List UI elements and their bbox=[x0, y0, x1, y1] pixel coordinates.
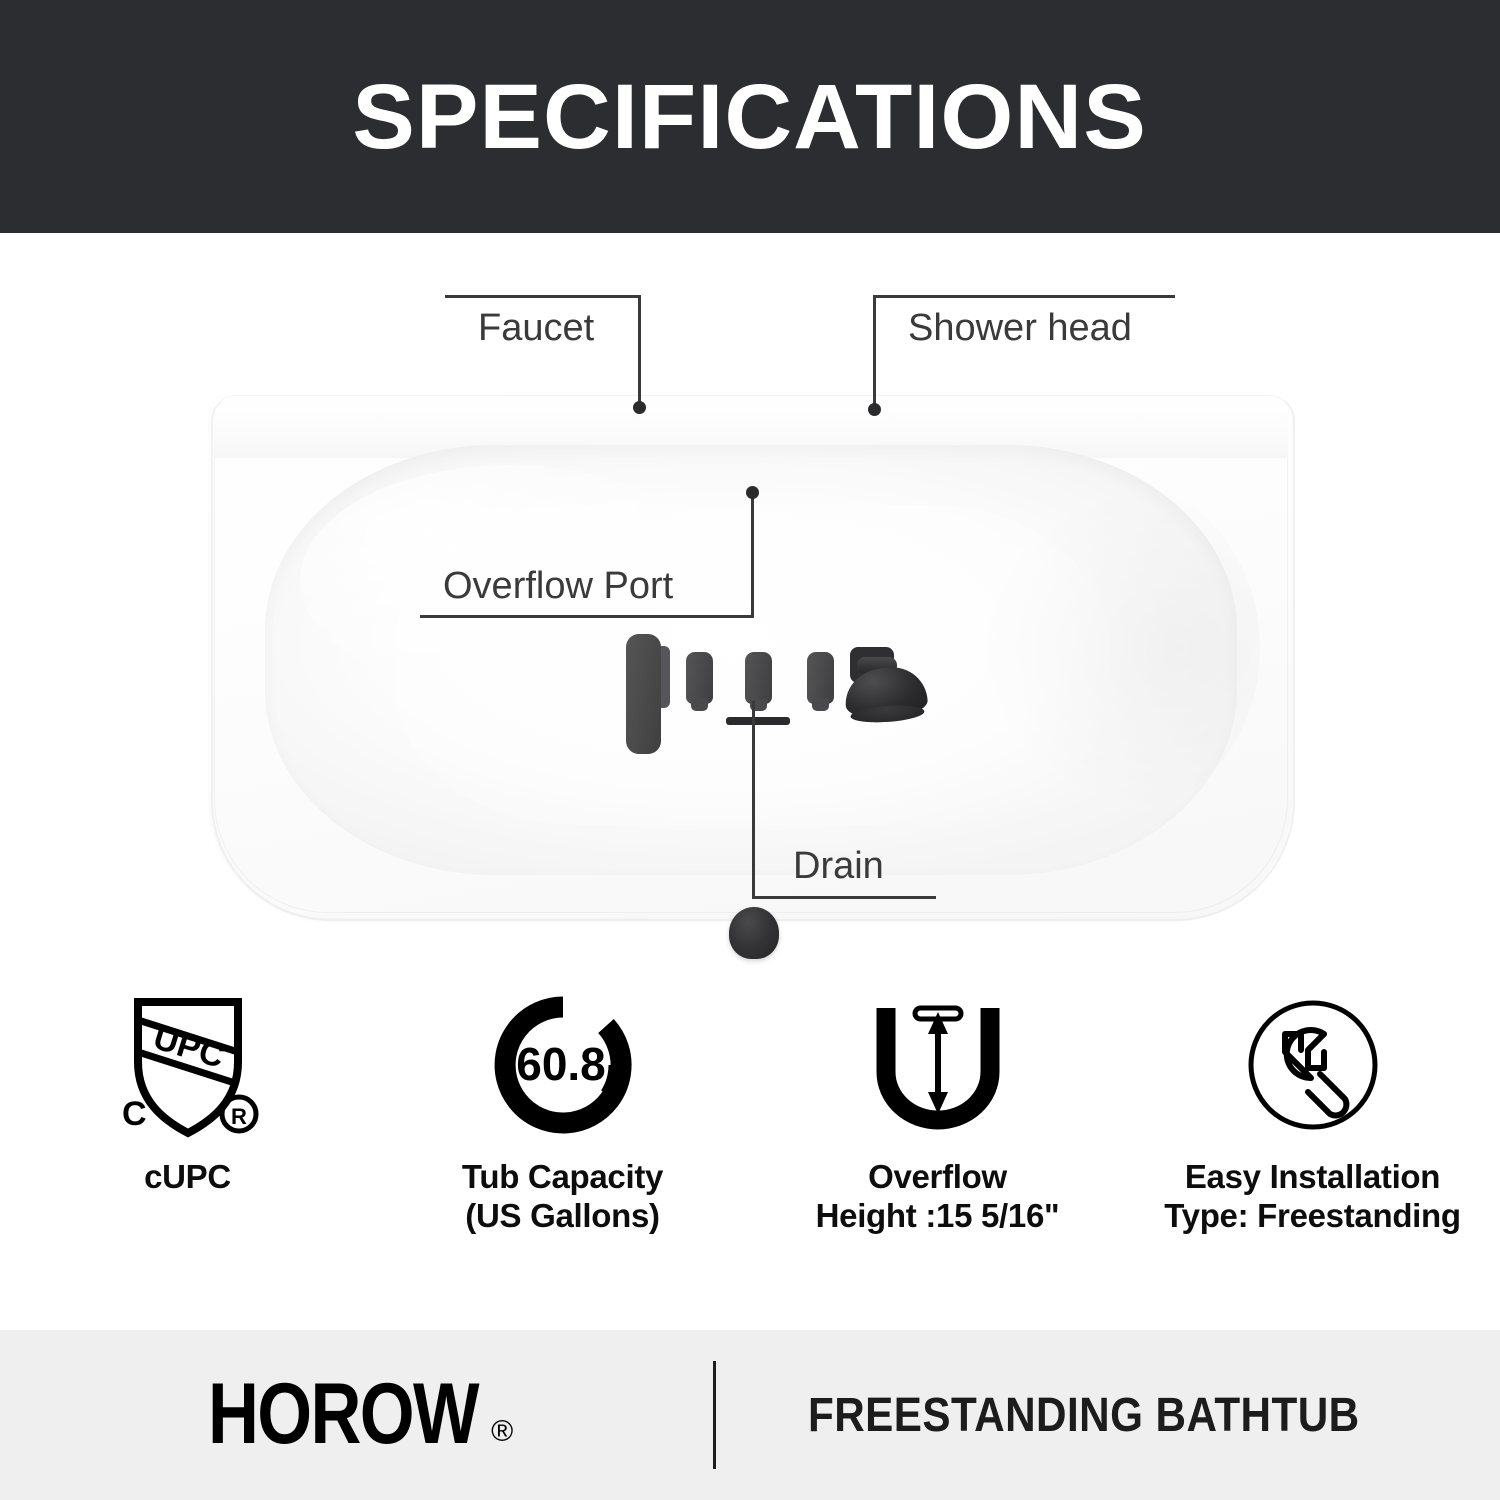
footer-bar: HOROW ® FREESTANDING BATHTUB bbox=[0, 1330, 1500, 1500]
feature-list: UPC C R cUPC 60.8 Tub Capacity (US Gallo… bbox=[0, 990, 1500, 1290]
feature-tub-capacity: 60.8 Tub Capacity (US Gallons) bbox=[375, 990, 750, 1290]
footer-tagline: FREESTANDING BATHTUB bbox=[808, 1388, 1360, 1443]
faucet-callout-line-horizontal bbox=[445, 295, 641, 298]
overflow-port bbox=[726, 717, 790, 725]
cupc-shield-icon: UPC C R bbox=[108, 990, 268, 1140]
callout-label-faucet: Faucet bbox=[478, 307, 594, 350]
feature-overflow-height: Overflow Height :15 5/16" bbox=[750, 990, 1125, 1290]
callout-label-shower-head: Shower head bbox=[908, 307, 1132, 350]
overflow-port-callout-dot bbox=[746, 486, 759, 499]
faucet-handle-2 bbox=[745, 652, 772, 704]
page-title: SPECIFICATIONS bbox=[353, 71, 1148, 163]
brand-name: HOROW bbox=[208, 1375, 478, 1454]
feature-label-overflow-height: Overflow Height :15 5/16" bbox=[816, 1158, 1060, 1236]
feature-label-line: Overflow bbox=[816, 1158, 1060, 1197]
feature-label-easy-installation: Easy Installation Type: Freestanding bbox=[1164, 1158, 1461, 1236]
faucet-callout-line-vertical bbox=[638, 295, 641, 407]
feature-label-cupc: cUPC bbox=[144, 1158, 231, 1197]
drain-callout-line-horizontal bbox=[752, 896, 936, 899]
feature-label-line: (US Gallons) bbox=[462, 1197, 663, 1236]
header-banner: SPECIFICATIONS bbox=[0, 0, 1500, 233]
registered-mark-icon: ® bbox=[491, 1415, 513, 1449]
drain bbox=[729, 907, 779, 959]
svg-text:C: C bbox=[122, 1095, 147, 1133]
product-diagram: Faucet Shower head Overflow Port Drain bbox=[0, 233, 1500, 978]
shower-head-callout-dot bbox=[868, 403, 881, 416]
faucet-callout-dot bbox=[633, 401, 646, 414]
feature-label-line: Tub Capacity bbox=[462, 1158, 663, 1197]
feature-cupc: UPC C R cUPC bbox=[0, 990, 375, 1290]
feature-easy-installation: Easy Installation Type: Freestanding bbox=[1125, 990, 1500, 1290]
svg-text:R: R bbox=[231, 1104, 247, 1129]
feature-label-tub-capacity: Tub Capacity (US Gallons) bbox=[462, 1158, 663, 1236]
faucet-handle-1 bbox=[686, 652, 713, 704]
callout-label-overflow-port: Overflow Port bbox=[443, 565, 673, 608]
brand-logo: HOROW ® bbox=[208, 1375, 513, 1454]
feature-label-line: Easy Installation bbox=[1164, 1158, 1461, 1197]
shower-head-callout-line-horizontal bbox=[873, 295, 1175, 298]
shower-head-callout-line-vertical bbox=[873, 295, 876, 409]
feature-label-line: cUPC bbox=[144, 1158, 231, 1197]
faucet-spout bbox=[626, 634, 661, 754]
capacity-gauge-icon: 60.8 bbox=[488, 990, 638, 1140]
overflow-port-callout-line-vertical bbox=[751, 489, 754, 617]
feature-label-line: Type: Freestanding bbox=[1164, 1197, 1461, 1236]
overflow-height-icon bbox=[853, 990, 1023, 1140]
feature-label-line: Height :15 5/16" bbox=[816, 1197, 1060, 1236]
wrench-circle-icon bbox=[1238, 990, 1388, 1140]
capacity-value: 60.8 bbox=[516, 1038, 606, 1090]
faucet-handle-3 bbox=[807, 652, 834, 704]
overflow-port-callout-line-horizontal bbox=[420, 615, 754, 618]
footer-divider bbox=[713, 1361, 716, 1469]
callout-label-drain: Drain bbox=[793, 845, 884, 888]
drain-callout-line-vertical bbox=[752, 701, 755, 899]
